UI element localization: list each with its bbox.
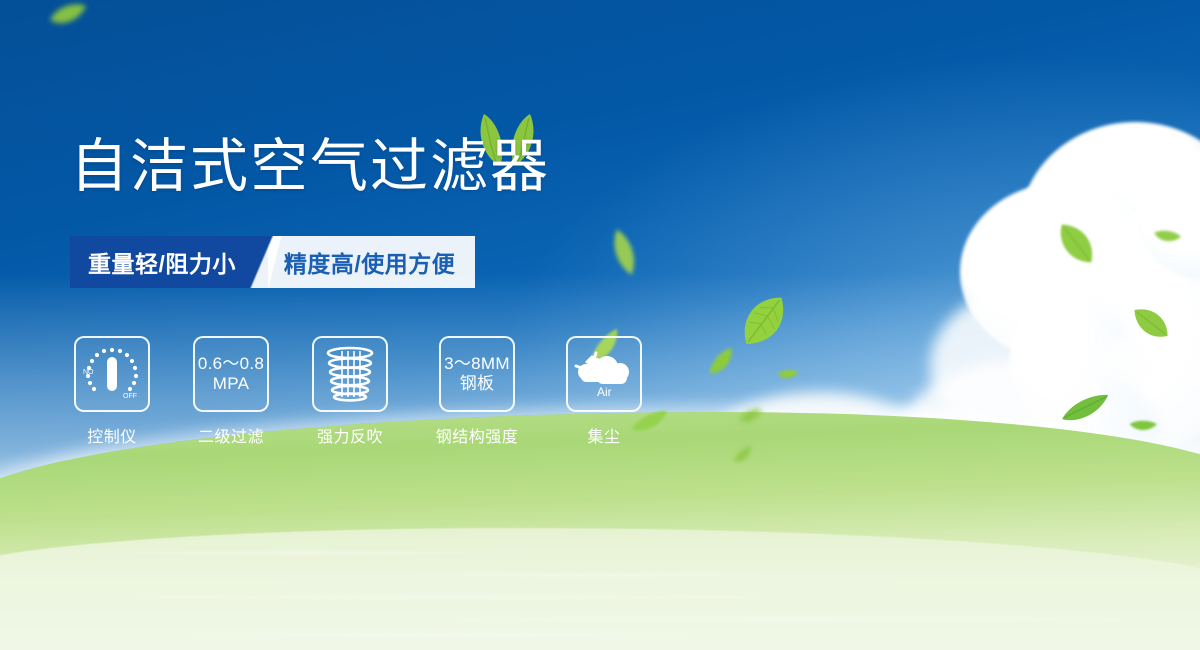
feature-item-two-stage-filter[interactable]: 0.6～0.8 MPA 二级过滤 bbox=[193, 336, 269, 447]
dial-off-label: OFF bbox=[123, 393, 137, 400]
air-cloud-icon: Air bbox=[573, 350, 635, 398]
pressure-value-line2: MPA bbox=[213, 374, 249, 394]
air-label: Air bbox=[597, 385, 612, 398]
subtitle-left-segment: 重量轻/阻力小 bbox=[70, 236, 256, 288]
subtitle-right-segment: 精度高/使用方便 bbox=[268, 236, 475, 288]
feature-label: 控制仪 bbox=[87, 423, 137, 447]
feature-label: 强力反吹 bbox=[317, 423, 383, 447]
feature-box: NO OFF bbox=[74, 336, 150, 412]
feature-label: 钢结构强度 bbox=[436, 423, 519, 447]
dial-on-label: NO bbox=[83, 369, 94, 376]
feature-item-dust-collection[interactable]: Air 集尘 bbox=[566, 336, 642, 447]
feature-box bbox=[312, 336, 388, 412]
filter-coil-icon bbox=[322, 345, 378, 403]
feature-item-steel-structure[interactable]: 3～8MM 钢板 钢结构强度 bbox=[431, 336, 523, 447]
feature-item-control-dial[interactable]: NO OFF 控制仪 bbox=[74, 336, 150, 447]
feature-box: 3～8MM 钢板 bbox=[439, 336, 515, 412]
steel-plate-line1: 3～8MM bbox=[444, 354, 510, 374]
feature-box: 0.6～0.8 MPA bbox=[193, 336, 269, 412]
page-title: 自洁式空气过滤器 bbox=[70, 138, 550, 196]
feature-label: 二级过滤 bbox=[198, 423, 264, 447]
steel-plate-line2: 钢板 bbox=[460, 374, 495, 394]
pressure-value-line1: 0.6～0.8 bbox=[198, 354, 264, 374]
feature-label: 集尘 bbox=[587, 423, 620, 447]
subtitle-bar: 重量轻/阻力小 精度高/使用方便 bbox=[70, 236, 475, 288]
product-banner: 自洁式空气过滤器 重量轻/阻力小 精度高/使用方便 bbox=[0, 0, 1200, 650]
feature-item-backflush[interactable]: 强力反吹 bbox=[312, 336, 388, 447]
feature-box: Air bbox=[566, 336, 642, 412]
control-dial-icon: NO OFF bbox=[81, 345, 143, 403]
feature-list: NO OFF 控制仪 0.6～0.8 MPA 二级过滤 bbox=[74, 336, 642, 447]
meadow-foreground bbox=[0, 528, 1200, 650]
